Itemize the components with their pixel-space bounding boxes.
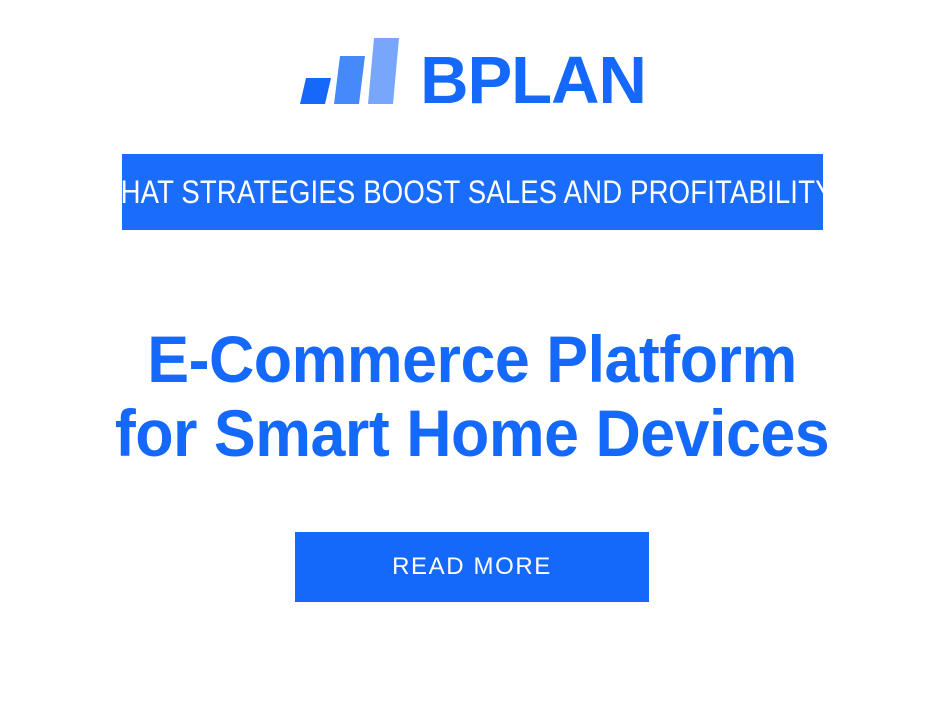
cta-container: Read More xyxy=(0,532,944,602)
brand-header: BPLAN xyxy=(298,30,646,110)
logo-bar-1 xyxy=(300,78,331,104)
page-title-line-1: E-Commerce Platform xyxy=(54,322,890,396)
read-more-button-label: Read More xyxy=(392,555,552,579)
page-title-line-2: for Smart Home Devices xyxy=(54,396,890,470)
logo-bar-3 xyxy=(368,38,399,104)
read-more-button[interactable]: Read More xyxy=(295,532,649,602)
question-banner-text: What Strategies Boost Sales and Profitab… xyxy=(95,176,850,208)
page-title: E-Commerce Platform for Smart Home Devic… xyxy=(32,322,912,470)
question-banner: What Strategies Boost Sales and Profitab… xyxy=(122,154,823,230)
brand-name: BPLAN xyxy=(420,50,646,112)
poster-canvas: BPLAN What Strategies Boost Sales and Pr… xyxy=(0,0,944,708)
logo-bar-2 xyxy=(334,56,365,104)
bar-chart-logo-icon xyxy=(298,34,402,110)
